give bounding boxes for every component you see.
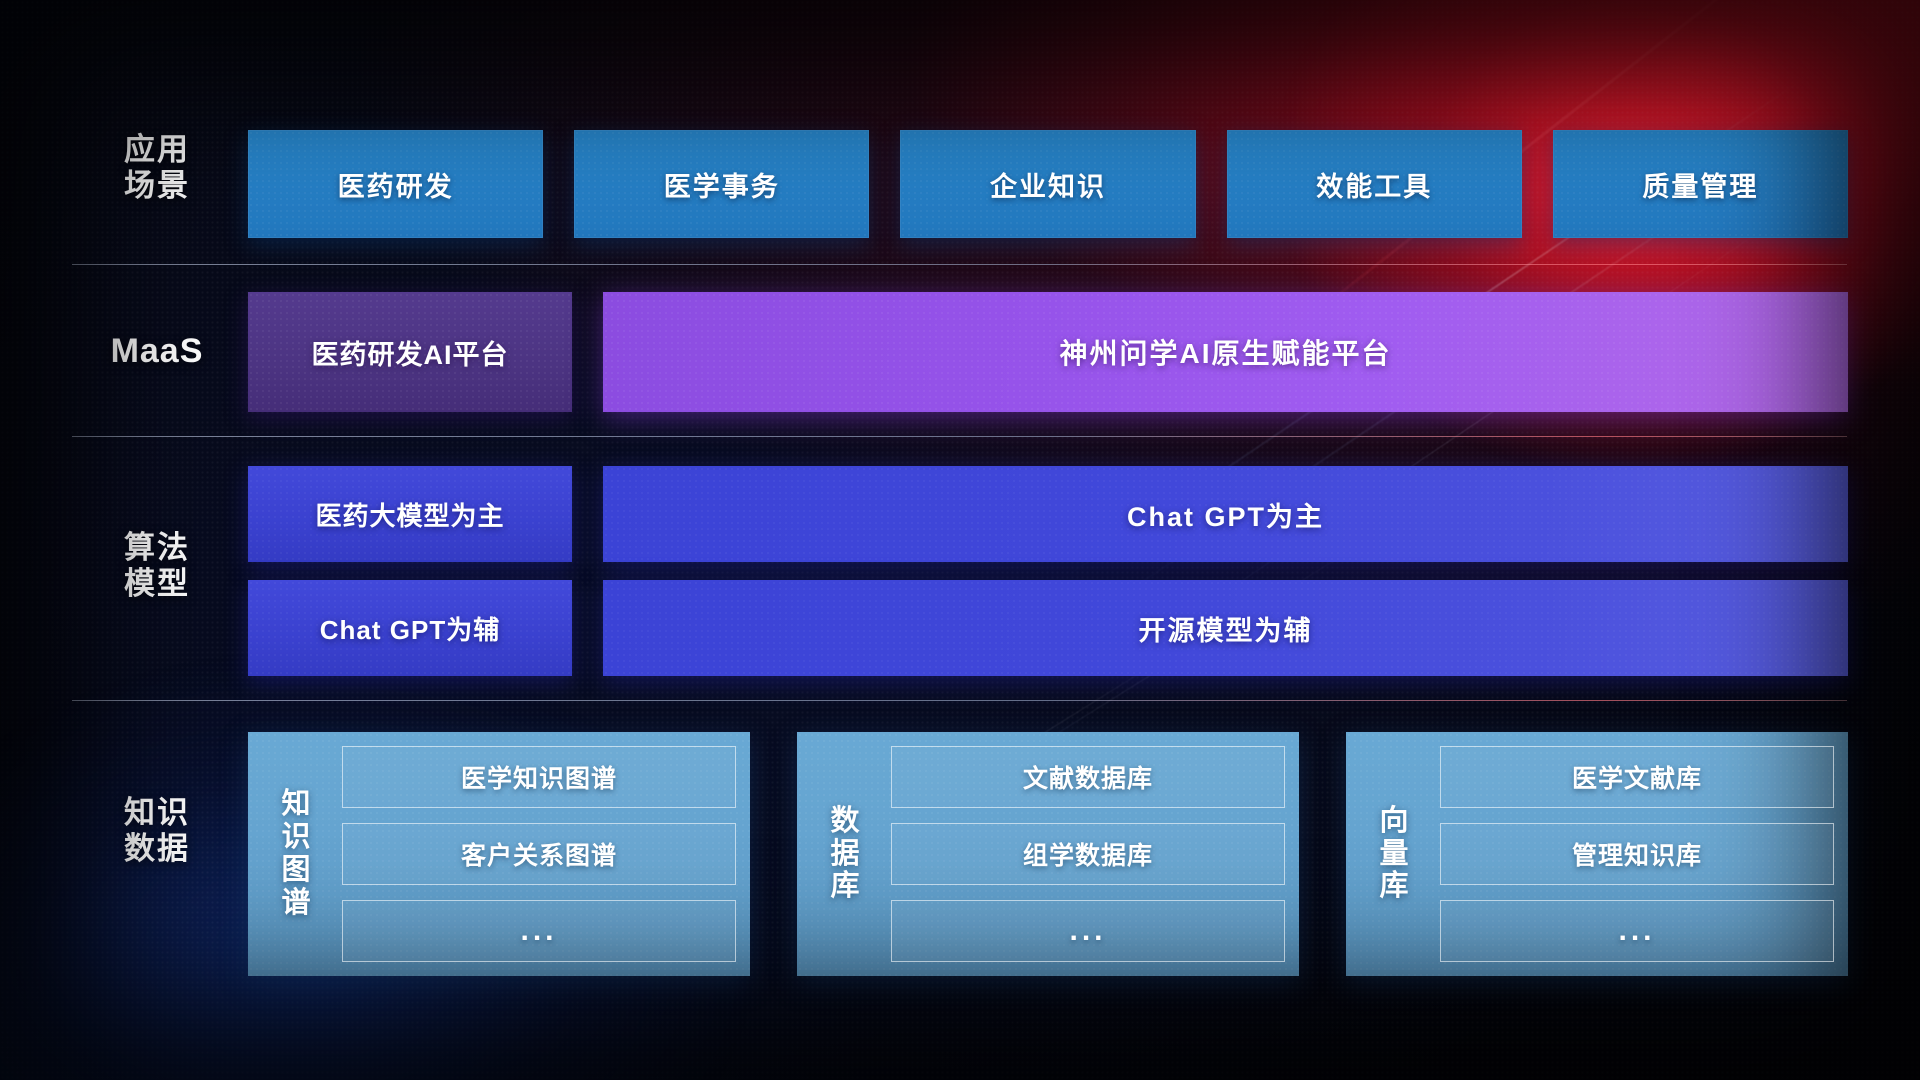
knowledge-item[interactable]: 管理知识库 (1440, 823, 1834, 885)
algorithm-card-primary-right[interactable]: Chat GPT为主 (603, 466, 1848, 562)
algorithm-card-secondary-right[interactable]: 开源模型为辅 (603, 580, 1848, 676)
knowledge-item-label: ... (1069, 914, 1106, 948)
row-label-line: MaaS (72, 332, 242, 371)
knowledge-item-label: 管理知识库 (1572, 836, 1702, 872)
knowledge-item-label: 医学知识图谱 (461, 759, 617, 795)
knowledge-panel-title-text: 知识图谱 (281, 788, 310, 919)
row-label-line: 模型 (72, 566, 242, 602)
knowledge-item[interactable]: 客户关系图谱 (342, 823, 736, 885)
row-label-line: 知识 (72, 795, 242, 831)
maas-platform-card-pharma[interactable]: 医药研发AI平台 (248, 292, 572, 412)
application-scenarios-row: 医药研发 医学事务 企业知识 效能工具 质量管理 (248, 130, 1848, 238)
app-scenario-label: 医学事务 (664, 165, 780, 204)
row-label-application-scenarios: 应用 场景 (72, 132, 242, 204)
knowledge-item-more[interactable]: ... (891, 900, 1285, 962)
algorithm-card-primary-left[interactable]: 医药大模型为主 (248, 466, 572, 562)
knowledge-item-more[interactable]: ... (342, 900, 736, 962)
algorithm-label: 开源模型为辅 (1139, 609, 1313, 648)
knowledge-item-list: 医学知识图谱 客户关系图谱 ... (342, 746, 736, 962)
algorithm-label: Chat GPT为辅 (320, 610, 500, 647)
algorithm-label: 医药大模型为主 (315, 496, 504, 533)
maas-platform-card-shenzhou[interactable]: 神州问学AI原生赋能平台 (603, 292, 1848, 412)
algorithm-models-row: 医药大模型为主 Chat GPT为主 Chat GPT为辅 开源模型为辅 (248, 466, 1848, 676)
knowledge-panel-database[interactable]: 数据库 文献数据库 组学数据库 ... (797, 732, 1299, 976)
app-scenario-label: 医药研发 (338, 165, 454, 204)
app-scenario-card-4[interactable]: 效能工具 (1227, 130, 1522, 238)
knowledge-item[interactable]: 文献数据库 (891, 746, 1285, 808)
knowledge-item[interactable]: 医学文献库 (1440, 746, 1834, 808)
diagram-content: 应用 场景 医药研发 医学事务 企业知识 效能工具 质量管理 MaaS (0, 0, 1920, 1080)
maas-row: 医药研发AI平台 神州问学AI原生赋能平台 (248, 292, 1848, 412)
app-scenario-card-2[interactable]: 医学事务 (574, 130, 869, 238)
divider-3 (72, 700, 1847, 701)
knowledge-panel-vector-store[interactable]: 向量库 医学文献库 管理知识库 ... (1346, 732, 1848, 976)
row-label-maas: MaaS (72, 332, 242, 371)
knowledge-item-label: 客户关系图谱 (461, 836, 617, 872)
app-scenario-label: 效能工具 (1316, 165, 1432, 204)
app-scenario-label: 质量管理 (1642, 165, 1758, 204)
row-label-line: 算法 (72, 530, 242, 566)
knowledge-item-more[interactable]: ... (1440, 900, 1834, 962)
row-label-line: 数据 (72, 831, 242, 867)
knowledge-panel-title: 数据库 (813, 746, 877, 962)
algorithm-model-line-1: 医药大模型为主 Chat GPT为主 (248, 466, 1848, 562)
row-label-knowledge-data: 知识 数据 (72, 795, 242, 867)
maas-platform-label: 医药研发AI平台 (312, 333, 509, 372)
algorithm-card-secondary-left[interactable]: Chat GPT为辅 (248, 580, 572, 676)
knowledge-panel-title-text: 向量库 (1379, 805, 1408, 903)
knowledge-item-label: 文献数据库 (1023, 759, 1153, 795)
app-scenario-card-3[interactable]: 企业知识 (900, 130, 1195, 238)
algorithm-label: Chat GPT为主 (1127, 495, 1324, 534)
knowledge-item[interactable]: 组学数据库 (891, 823, 1285, 885)
knowledge-item[interactable]: 医学知识图谱 (342, 746, 736, 808)
maas-platform-label: 神州问学AI原生赋能平台 (1059, 332, 1391, 372)
row-label-line: 应用 (72, 132, 242, 168)
knowledge-item-label: ... (520, 914, 557, 948)
slide-canvas: 应用 场景 医药研发 医学事务 企业知识 效能工具 质量管理 MaaS (0, 0, 1920, 1080)
knowledge-panel-knowledge-graph[interactable]: 知识图谱 医学知识图谱 客户关系图谱 ... (248, 732, 750, 976)
knowledge-panel-title: 向量库 (1362, 746, 1426, 962)
row-label-line: 场景 (72, 168, 242, 204)
knowledge-item-list: 文献数据库 组学数据库 ... (891, 746, 1285, 962)
algorithm-model-line-2: Chat GPT为辅 开源模型为辅 (248, 580, 1848, 676)
app-scenario-label: 企业知识 (990, 165, 1106, 204)
app-scenario-card-1[interactable]: 医药研发 (248, 130, 543, 238)
knowledge-item-label: 组学数据库 (1023, 836, 1153, 872)
knowledge-item-label: 医学文献库 (1572, 759, 1702, 795)
knowledge-panel-title: 知识图谱 (264, 746, 328, 962)
knowledge-item-list: 医学文献库 管理知识库 ... (1440, 746, 1834, 962)
row-label-algorithm-models: 算法 模型 (72, 530, 242, 602)
divider-2 (72, 436, 1847, 437)
knowledge-data-row: 知识图谱 医学知识图谱 客户关系图谱 ... 数据库 (248, 732, 1848, 976)
knowledge-item-label: ... (1618, 914, 1655, 948)
app-scenario-card-5[interactable]: 质量管理 (1553, 130, 1848, 238)
divider-1 (72, 264, 1847, 265)
knowledge-panel-title-text: 数据库 (830, 805, 859, 903)
